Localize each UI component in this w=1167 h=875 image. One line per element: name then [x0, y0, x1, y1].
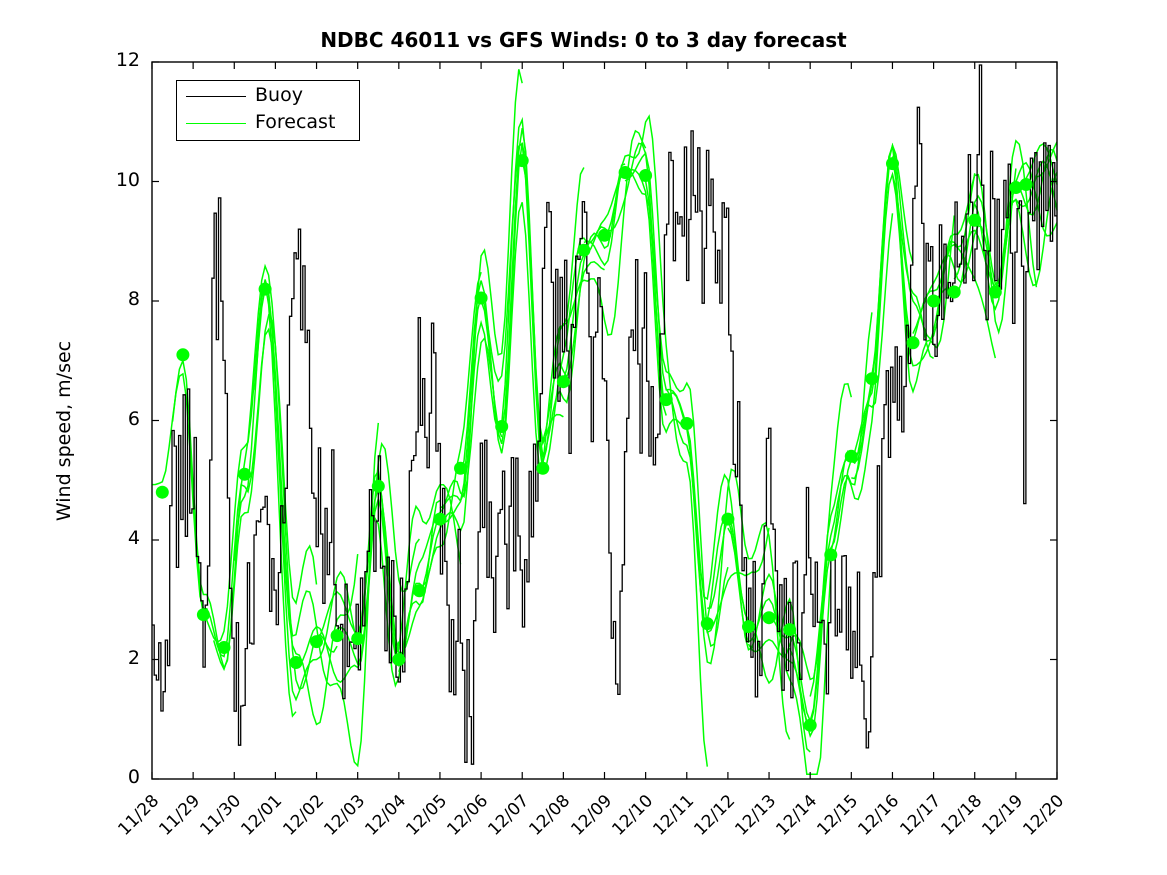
forecast-marker [968, 214, 981, 227]
legend-swatch-buoy [186, 96, 246, 97]
forecast-marker [392, 653, 405, 666]
forecast-marker [1020, 178, 1033, 191]
forecast-marker [804, 719, 817, 732]
forecast-marker [176, 348, 189, 361]
forecast-marker [577, 244, 590, 257]
legend-swatch-forecast [186, 123, 246, 124]
forecast-marker [557, 375, 570, 388]
forecast-marker [845, 450, 858, 463]
forecast-marker [619, 166, 632, 179]
forecast-marker [783, 623, 796, 636]
forecast-marker [680, 417, 693, 430]
forecast-marker [927, 295, 940, 308]
legend: Buoy Forecast [176, 80, 360, 141]
forecast-marker [156, 486, 169, 499]
forecast-marker [948, 286, 961, 299]
forecast-marker [475, 292, 488, 305]
buoy-line [152, 65, 1057, 764]
forecast-marker [989, 286, 1002, 299]
forecast-marker [310, 635, 323, 648]
forecast-marker [290, 656, 303, 669]
forecast-marker [197, 608, 210, 621]
legend-label-buoy: Buoy [255, 84, 303, 106]
forecast-marker [824, 548, 837, 561]
forecast-marker [639, 169, 652, 182]
forecast-trace [851, 146, 974, 479]
forecast-marker [454, 462, 467, 475]
forecast-marker [413, 584, 426, 597]
figure: NDBC 46011 vs GFS Winds: 0 to 3 day fore… [0, 0, 1167, 875]
forecast-marker [763, 611, 776, 624]
series-layer [152, 65, 1057, 774]
forecast-trace [769, 213, 893, 721]
forecast-marker [865, 372, 878, 385]
forecast-marker [598, 229, 611, 242]
forecast-marker [660, 393, 673, 406]
forecast-marker [331, 629, 344, 642]
forecast-marker [259, 283, 272, 296]
forecast-marker [886, 157, 899, 170]
forecast-marker [372, 480, 385, 493]
forecast-marker [516, 154, 529, 167]
legend-label-forecast: Forecast [255, 111, 335, 133]
forecast-marker [742, 620, 755, 633]
forecast-marker [434, 513, 447, 526]
legend-item-forecast: Forecast [177, 111, 359, 137]
forecast-trace [605, 167, 728, 646]
forecast-marker [536, 462, 549, 475]
legend-item-buoy: Buoy [177, 84, 359, 110]
forecast-trace [461, 168, 584, 475]
forecast-marker [721, 513, 734, 526]
forecast-marker [238, 468, 251, 481]
forecast-marker [495, 420, 508, 433]
forecast-marker [351, 632, 364, 645]
forecast-marker [701, 617, 714, 630]
forecast-marker [907, 336, 920, 349]
forecast-trace [152, 330, 275, 657]
forecast-trace [831, 147, 954, 556]
forecast-trace [707, 519, 831, 775]
forecast-marker [218, 641, 231, 654]
